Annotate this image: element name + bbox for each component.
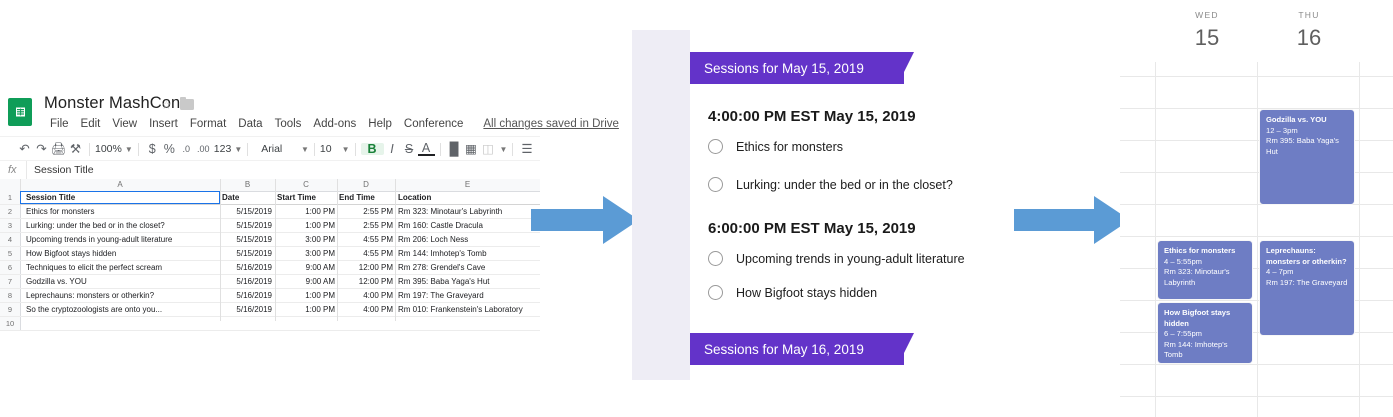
table-row[interactable]: Lurking: under the bed or in the closet?…: [20, 219, 540, 233]
cell-location: Rm 323: Minotaur's Labyrinth: [398, 205, 548, 218]
form-option-label: Ethics for monsters: [736, 140, 843, 154]
align-left-icon[interactable]: ☰: [518, 143, 535, 156]
form-option-label: Upcoming trends in young-adult literatur…: [736, 252, 965, 266]
calendar-column-divider: [1359, 62, 1360, 417]
corner-cell[interactable]: [0, 179, 21, 191]
cell-date: 5/15/2019: [202, 205, 272, 218]
table-row[interactable]: Techniques to elicit the perfect scream …: [20, 261, 540, 275]
calendar-column-divider: [1257, 62, 1258, 417]
calendar-event-title: How Bigfoot stays hidden: [1164, 308, 1246, 329]
form-section-banner-may-16: Sessions for May 16, 2019: [690, 333, 864, 365]
percent-icon[interactable]: %: [161, 143, 178, 156]
form-option-label: Lurking: under the bed or in the closet?: [736, 178, 953, 192]
cell-date: 5/15/2019: [202, 247, 272, 260]
row-header-4[interactable]: 4: [0, 233, 20, 247]
cell-start-time: 9:00 AM: [275, 275, 335, 288]
number-format-chevron-down-icon[interactable]: ▼: [234, 145, 242, 154]
table-row[interactable]: Ethics for monsters 5/15/2019 1:00 PM 2:…: [20, 205, 540, 219]
star-icon[interactable]: ☆: [161, 99, 173, 111]
calendar-event-ethics[interactable]: Ethics for monsters 4 – 5:55pm Rm 323: M…: [1157, 240, 1253, 300]
increase-decimal-icon[interactable]: .00: [195, 145, 212, 154]
cell-location: Rm 395: Baba Yaga's Hut: [398, 275, 548, 288]
radio-button-icon[interactable]: [708, 285, 723, 300]
calendar-event-title: Ethics for monsters: [1164, 246, 1246, 257]
font-family-chevron-down-icon[interactable]: ▼: [301, 145, 309, 154]
row-header-3[interactable]: 3: [0, 219, 20, 233]
cell-location: Rm 144: Imhotep's Tomb: [398, 247, 548, 260]
redo-icon[interactable]: ↷: [33, 143, 50, 156]
cell-session-title: Leprechauns: monsters or otherkin?: [26, 289, 216, 302]
header-cell-location: Location: [398, 191, 548, 204]
menu-item-view[interactable]: View: [106, 118, 143, 130]
form-side-strip: [632, 30, 690, 380]
banner-tail-2: [898, 333, 914, 365]
toolbar-divider-5: [355, 143, 356, 156]
cell-session-title: Techniques to elicit the perfect scream: [26, 261, 216, 274]
cell-session-title: Lurking: under the bed or in the closet?: [26, 219, 216, 232]
currency-icon[interactable]: $: [144, 143, 161, 156]
font-size-chevron-down-icon[interactable]: ▼: [342, 145, 350, 154]
cell-session-title: So the cryptozoologists are onto you...: [26, 303, 216, 316]
form-question-2-title: 6:00:00 PM EST May 15, 2019: [708, 220, 916, 237]
calendar-day-thu[interactable]: THU 16: [1259, 10, 1359, 51]
toolbar-divider-6: [440, 143, 441, 156]
cell-session-title: Godzilla vs. YOU: [26, 275, 216, 288]
google-form-panel: Sessions for May 15, 2019 4:00:00 PM EST…: [632, 30, 992, 380]
menu-item-help[interactable]: Help: [362, 118, 398, 130]
cell-start-time: 9:00 AM: [275, 261, 335, 274]
form-section-banner-may-15: Sessions for May 15, 2019: [690, 52, 864, 84]
cell-start-time: 3:00 PM: [275, 233, 335, 246]
calendar-day-of-week: THU: [1259, 10, 1359, 20]
cell-start-time: 1:00 PM: [275, 219, 335, 232]
form-option-upcoming-trends[interactable]: Upcoming trends in young-adult literatur…: [708, 251, 965, 266]
paint-format-icon[interactable]: ⚒: [67, 143, 84, 156]
form-option-label: How Bigfoot stays hidden: [736, 286, 877, 300]
google-calendar-panel: WED 15 THU 16 Godzilla vs. YO: [1120, 0, 1393, 417]
table-row[interactable]: How Bigfoot stays hidden 5/15/2019 3:00 …: [20, 247, 540, 261]
number-format-selector[interactable]: 123: [214, 143, 232, 155]
calendar-column-divider: [1155, 62, 1156, 417]
calendar-event-time: 12 – 3pm: [1266, 126, 1348, 137]
cell-session-title: Upcoming trends in young-adult literatur…: [26, 233, 216, 246]
google-sheets-icon[interactable]: [8, 98, 32, 126]
table-row-empty[interactable]: [20, 317, 540, 331]
calendar-event-title: Godzilla vs. YOU: [1266, 115, 1348, 126]
column-divider-d: [337, 191, 338, 321]
calendar-event-location: Rm 395: Baba Yaga's Hut: [1266, 136, 1348, 157]
menu-item-insert[interactable]: Insert: [143, 118, 184, 130]
calendar-event-location: Rm 144: Imhotep's Tomb: [1164, 340, 1246, 361]
calendar-event-time: 4 – 5:55pm: [1164, 257, 1246, 268]
column-header-d[interactable]: D: [337, 179, 396, 191]
toolbar-divider-2: [138, 143, 139, 156]
menu-item-edit[interactable]: Edit: [75, 118, 107, 130]
cell-location: Rm 010: Frankenstein's Laboratory: [398, 303, 548, 316]
cell-end-time: 4:00 PM: [333, 289, 393, 302]
cell-date: 5/15/2019: [202, 219, 272, 232]
flow-arrow-1: [531, 196, 639, 244]
cell-session-title: Ethics for monsters: [26, 205, 216, 218]
text-color-button[interactable]: A: [418, 142, 435, 157]
radio-button-icon[interactable]: [708, 177, 723, 192]
calendar-header: WED 15 THU 16: [1120, 0, 1393, 62]
cell-end-time: 4:55 PM: [333, 247, 393, 260]
calendar-event-time: 6 – 7:55pm: [1164, 329, 1246, 340]
document-title[interactable]: Monster MashCon: [44, 94, 180, 113]
form-option-ethics-for-monsters[interactable]: Ethics for monsters: [708, 139, 843, 154]
calendar-event-leprechauns[interactable]: Leprechauns: monsters or otherkin? 4 – 7…: [1259, 240, 1355, 336]
row-header-10[interactable]: 10: [0, 317, 20, 331]
calendar-day-number: 15: [1157, 25, 1257, 51]
column-header-a[interactable]: A: [20, 179, 221, 191]
print-icon[interactable]: 🖨: [50, 143, 67, 156]
cell-end-time: 4:00 PM: [333, 303, 393, 316]
fill-color-icon[interactable]: █: [446, 143, 463, 156]
column-header-c[interactable]: C: [275, 179, 338, 191]
row-header-8[interactable]: 8: [0, 289, 20, 303]
header-cell-end-time: End Time: [339, 191, 393, 204]
column-header-b[interactable]: B: [220, 179, 276, 191]
calendar-event-location: Rm 323: Minotaur's Labyrinth: [1164, 267, 1246, 288]
calendar-event-bigfoot[interactable]: How Bigfoot stays hidden 6 – 7:55pm Rm 1…: [1157, 302, 1253, 364]
column-header-e[interactable]: E: [395, 179, 540, 191]
calendar-event-title: Leprechauns: monsters or otherkin?: [1266, 246, 1348, 267]
cell-location: Rm 197: The Graveyard: [398, 289, 548, 302]
row-header-1[interactable]: 1: [0, 191, 20, 205]
calendar-event-godzilla[interactable]: Godzilla vs. YOU 12 – 3pm Rm 395: Baba Y…: [1259, 109, 1355, 205]
cell-end-time: 4:55 PM: [333, 233, 393, 246]
cell-start-time: 1:00 PM: [275, 289, 335, 302]
cell-location: Rm 160: Castle Dracula: [398, 219, 548, 232]
font-family-selector[interactable]: Arial: [261, 143, 282, 155]
form-option-how-bigfoot-stays-hidden[interactable]: How Bigfoot stays hidden: [708, 285, 877, 300]
cell-date: 5/16/2019: [202, 303, 272, 316]
font-size-selector[interactable]: 10: [320, 143, 332, 155]
calendar-event-time: 4 – 7pm: [1266, 267, 1348, 278]
cell-date: 5/16/2019: [202, 275, 272, 288]
form-question-1-title: 4:00:00 PM EST May 15, 2019: [708, 108, 916, 125]
radio-button-icon[interactable]: [708, 251, 723, 266]
undo-icon[interactable]: ↶: [16, 143, 33, 156]
table-header-row[interactable]: Session Title Date Start Time End Time L…: [20, 191, 540, 205]
radio-button-icon[interactable]: [708, 139, 723, 154]
cell-date: 5/16/2019: [202, 289, 272, 302]
row-header-7[interactable]: 7: [0, 275, 20, 289]
form-option-lurking[interactable]: Lurking: under the bed or in the closet?: [708, 177, 953, 192]
formula-input[interactable]: Session Title: [34, 164, 94, 176]
cell-date: 5/16/2019: [202, 261, 272, 274]
calendar-grid[interactable]: Godzilla vs. YOU 12 – 3pm Rm 395: Baba Y…: [1120, 62, 1393, 417]
bold-button[interactable]: B: [361, 143, 384, 156]
merge-chevron-down-icon[interactable]: ▼: [500, 145, 508, 154]
cell-end-time: 2:55 PM: [333, 205, 393, 218]
cell-start-time: 1:00 PM: [275, 303, 335, 316]
row-header-9[interactable]: 9: [0, 303, 20, 317]
banner-tail-1: [898, 52, 914, 84]
italic-button[interactable]: I: [384, 143, 401, 156]
row-header-2[interactable]: 2: [0, 205, 20, 219]
formula-bar-divider: [26, 161, 27, 180]
header-cell-start-time: Start Time: [277, 191, 335, 204]
column-divider-e: [395, 191, 396, 321]
folder-icon[interactable]: [180, 99, 194, 110]
google-sheets-panel: Monster MashCon ☆ File Edit View Insert …: [0, 92, 540, 320]
cell-start-time: 3:00 PM: [275, 247, 335, 260]
flow-arrow-2: [1014, 196, 1130, 244]
merge-cells-icon[interactable]: ◫: [480, 143, 497, 156]
column-divider-c: [275, 191, 276, 321]
sheets-toolbar: ↶ ↷ 🖨 ⚒ 100% ▼ $ % .0 .00 123 ▼ Arial ▼: [0, 136, 540, 161]
strikethrough-button[interactable]: S: [401, 143, 418, 156]
table-row[interactable]: Godzilla vs. YOU 5/16/2019 9:00 AM 12:00…: [20, 275, 540, 289]
table-row[interactable]: Upcoming trends in young-adult literatur…: [20, 233, 540, 247]
row-header-6[interactable]: 6: [0, 261, 20, 275]
table-row[interactable]: So the cryptozoologists are onto you... …: [20, 303, 540, 317]
cell-location: Rm 278: Grendel's Cave: [398, 261, 548, 274]
menu-item-file[interactable]: File: [44, 118, 75, 130]
menu-item-data[interactable]: Data: [232, 118, 268, 130]
workflow-diagram: Monster MashCon ☆ File Edit View Insert …: [0, 0, 1393, 417]
header-cell-session-title: Session Title: [26, 191, 216, 204]
save-status[interactable]: All changes saved in Drive: [483, 118, 619, 130]
banner-label-2: Sessions for May 16, 2019: [690, 342, 864, 357]
fx-icon: fx: [8, 164, 17, 176]
borders-icon[interactable]: ▦: [463, 143, 480, 156]
calendar-event-location: Rm 197: The Graveyard: [1266, 278, 1348, 289]
spreadsheet-rows: Session Title Date Start Time End Time L…: [20, 191, 540, 331]
toolbar-divider-3: [247, 143, 248, 156]
cell-start-time: 1:00 PM: [275, 205, 335, 218]
zoom-level[interactable]: 100%: [95, 143, 122, 155]
column-divider-b: [220, 191, 221, 321]
calendar-day-wed[interactable]: WED 15: [1157, 10, 1257, 51]
table-row[interactable]: Leprechauns: monsters or otherkin? 5/16/…: [20, 289, 540, 303]
calendar-day-of-week: WED: [1157, 10, 1257, 20]
menu-item-addons[interactable]: Add-ons: [307, 118, 362, 130]
calendar-day-number: 16: [1259, 25, 1359, 51]
zoom-chevron-down-icon[interactable]: ▼: [125, 145, 133, 154]
toolbar-divider-7: [512, 143, 513, 156]
menu-item-tools[interactable]: Tools: [269, 118, 308, 130]
sheets-titlebar: Monster MashCon ☆ File Edit View Insert …: [0, 92, 540, 136]
cell-date: 5/15/2019: [202, 233, 272, 246]
header-cell-date: Date: [222, 191, 272, 204]
toolbar-divider-4: [314, 143, 315, 156]
toolbar-divider-1: [89, 143, 90, 156]
cell-session-title: How Bigfoot stays hidden: [26, 247, 216, 260]
row-header-5[interactable]: 5: [0, 247, 20, 261]
cell-end-time: 2:55 PM: [333, 219, 393, 232]
banner-label-1: Sessions for May 15, 2019: [690, 61, 864, 76]
decrease-decimal-icon[interactable]: .0: [178, 145, 195, 154]
menu-item-conference[interactable]: Conference: [398, 118, 469, 130]
cell-location: Rm 206: Loch Ness: [398, 233, 548, 246]
menu-bar: File Edit View Insert Format Data Tools …: [44, 118, 619, 130]
menu-item-format[interactable]: Format: [184, 118, 232, 130]
formula-bar: fx Session Title: [0, 160, 540, 181]
row-headers: 1 2 3 4 5 6 7 8 9 10: [0, 191, 21, 331]
